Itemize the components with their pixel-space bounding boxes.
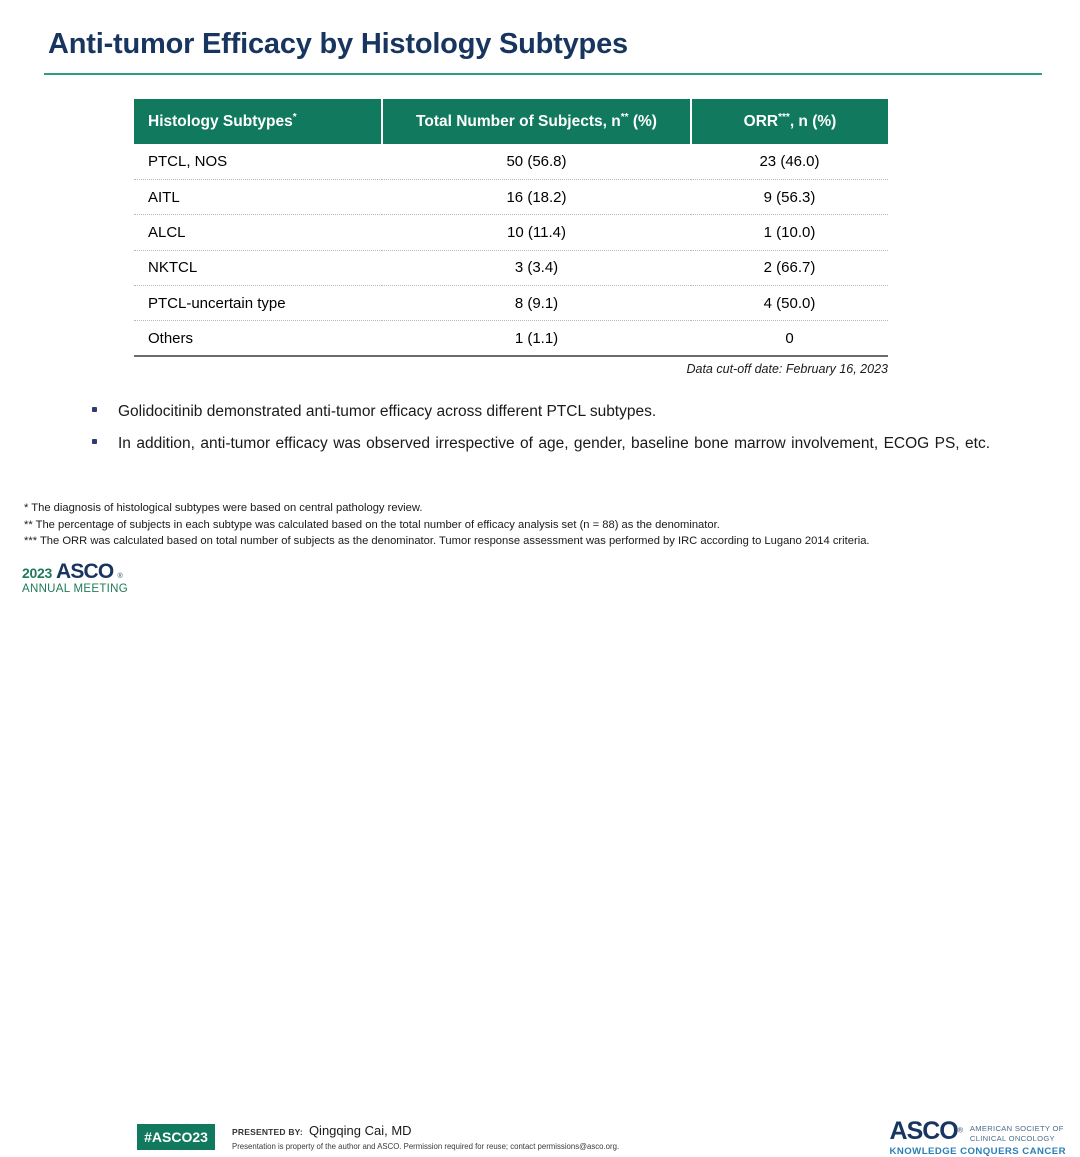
table-row: Others 1 (1.1) 0 [134,321,888,356]
presenter-block: PRESENTED BY: Qingqing Cai, MD Presentat… [232,1123,619,1151]
table-header-row: Histology Subtypes* Total Number of Subj… [134,99,888,144]
presenter-name: Qingqing Cai, MD [309,1123,412,1138]
meeting-subtitle: ANNUAL MEETING [22,583,130,595]
cell-subtype: PTCL, NOS [134,144,382,179]
cell-orr: 23 (46.0) [691,144,888,179]
column-header-orr: ORR***, n (%) [691,99,888,144]
key-findings-list: Golidocitinib demonstrated anti-tumor ef… [92,398,990,490]
asco-wordmark: ASCO [890,1117,958,1145]
list-item: In addition, anti-tumor efficacy was obs… [92,430,990,486]
cell-orr: 1 (10.0) [691,215,888,250]
column-header-label: Histology Subtypes [148,113,293,130]
data-cutoff-note: Data cut-off date: February 16, 2023 [134,362,888,376]
table-row: AITL 16 (18.2) 9 (56.3) [134,179,888,214]
table-row: PTCL, NOS 50 (56.8) 23 (46.0) [134,144,888,179]
bullet-square-icon [92,407,97,412]
page-title: Anti-tumor Efficacy by Histology Subtype… [48,28,628,61]
column-header-label-suffix: (%) [629,113,657,130]
cell-orr: 0 [691,321,888,356]
bullet-square-icon [92,439,97,444]
org-tagline: KNOWLEDGE CONQUERS CANCER [890,1146,1066,1157]
cell-subtype: PTCL-uncertain type [134,286,382,321]
cell-orr: 9 (56.3) [691,179,888,214]
asco-organization-logo: ASCO® AMERICAN SOCIETY OF CLINICAL ONCOL… [890,1120,1066,1157]
cell-subtype: ALCL [134,215,382,250]
asco-wordmark: ASCO [56,561,113,582]
column-header-label: ORR [744,113,778,130]
list-item: Golidocitinib demonstrated anti-tumor ef… [92,398,990,426]
cell-total-subjects: 50 (56.8) [382,144,691,179]
cell-subtype: AITL [134,179,382,214]
footnote-triple-asterisk: *** The ORR was calculated based on tota… [24,533,1064,550]
org-subtitle-line-2: CLINICAL ONCOLOGY [970,1134,1064,1144]
footnote-marker-double-asterisk: ** [621,112,629,123]
cell-orr: 2 (66.7) [691,250,888,285]
cell-total-subjects: 10 (11.4) [382,215,691,250]
cell-subtype: Others [134,321,382,356]
table-row: NKTCL 3 (3.4) 2 (66.7) [134,250,888,285]
footnote-single-asterisk: * The diagnosis of histological subtypes… [24,500,1064,517]
presented-by-label: PRESENTED BY: [232,1127,303,1137]
hashtag-badge: #ASCO23 [137,1124,215,1150]
cell-total-subjects: 16 (18.2) [382,179,691,214]
cell-total-subjects: 1 (1.1) [382,321,691,356]
footnotes-block: * The diagnosis of histological subtypes… [24,500,1064,550]
cell-total-subjects: 3 (3.4) [382,250,691,285]
registered-trademark-icon: ® [117,573,122,580]
permission-notice: Presentation is property of the author a… [232,1142,619,1151]
column-header-label: Total Number of Subjects, n [416,113,621,130]
footnote-marker-triple-asterisk: *** [778,112,790,123]
bullet-text: Golidocitinib demonstrated anti-tumor ef… [118,398,990,426]
column-header-histology-subtypes: Histology Subtypes* [134,99,382,144]
column-header-label-suffix: , n (%) [790,113,837,130]
histology-subtypes-table: Histology Subtypes* Total Number of Subj… [134,99,888,357]
cell-total-subjects: 8 (9.1) [382,286,691,321]
table-row: PTCL-uncertain type 8 (9.1) 4 (50.0) [134,286,888,321]
cell-orr: 4 (50.0) [691,286,888,321]
cell-subtype: NKTCL [134,250,382,285]
column-header-total-subjects: Total Number of Subjects, n** (%) [382,99,691,144]
bullet-text: In addition, anti-tumor efficacy was obs… [118,430,990,486]
registered-trademark-icon: ® [958,1128,963,1135]
footnote-marker-single-asterisk: * [293,112,297,123]
asco-annual-meeting-logo: 2023 ASCO® ANNUAL MEETING [22,561,130,595]
table-row: ALCL 10 (11.4) 1 (10.0) [134,215,888,250]
slide-footer: 2023 ASCO® ANNUAL MEETING #ASCO23 PRESEN… [0,558,1080,603]
org-subtitle-line-1: AMERICAN SOCIETY OF [970,1124,1064,1134]
footnote-double-asterisk: ** The percentage of subjects in each su… [24,517,1064,534]
meeting-year: 2023 [22,565,52,581]
title-underline-rule [44,73,1042,75]
